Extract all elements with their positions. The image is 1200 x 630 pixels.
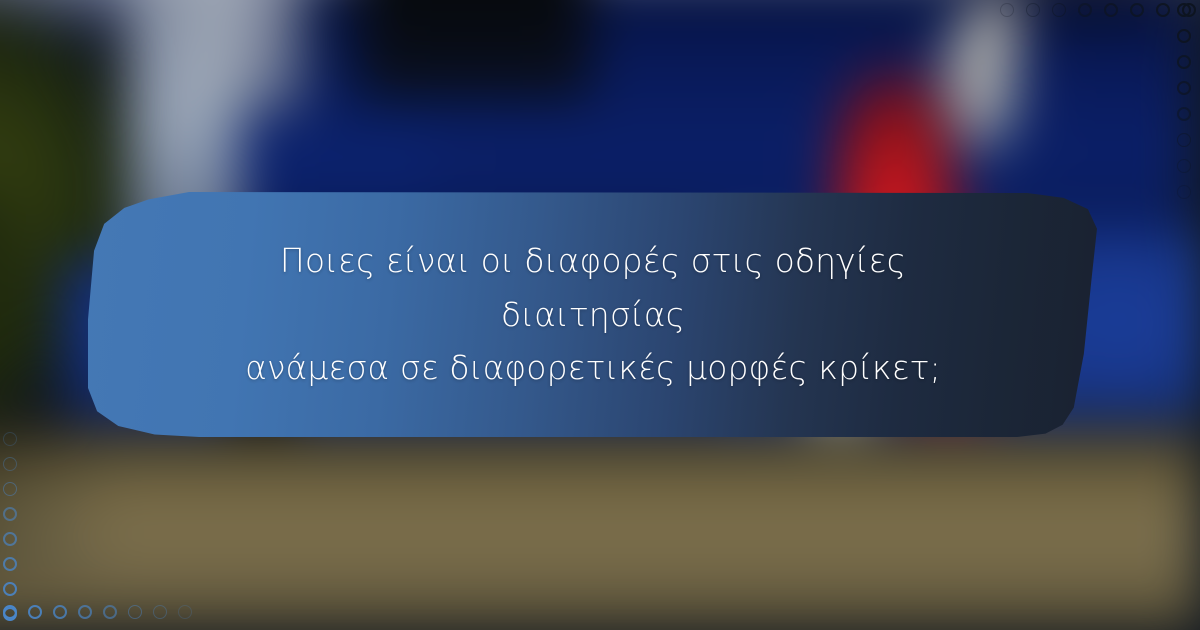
decorative-dot bbox=[1078, 3, 1092, 17]
decorative-dot bbox=[3, 507, 17, 521]
decorative-dot bbox=[1000, 3, 1014, 17]
decorative-dot bbox=[28, 605, 42, 619]
decorative-dot bbox=[1177, 3, 1191, 17]
decorative-dot bbox=[1177, 55, 1191, 69]
headline-line-1: Ποιες είναι οι διαφορές στις οδηγίες δια… bbox=[280, 241, 906, 333]
decorative-dot bbox=[1177, 107, 1191, 121]
decorative-dot bbox=[3, 482, 17, 496]
decorative-dot bbox=[1156, 3, 1170, 17]
card-content: Ποιες είναι οι διαφορές στις οδηγίες δια… bbox=[88, 192, 1098, 437]
decorative-dot bbox=[1177, 185, 1191, 199]
decorative-dot bbox=[78, 605, 92, 619]
decorative-dot bbox=[1130, 3, 1144, 17]
ground-strip-region bbox=[0, 428, 1200, 630]
decorative-dot bbox=[1177, 81, 1191, 95]
decorative-dot bbox=[128, 605, 142, 619]
page-title: Ποιες είναι οι διαφορές στις οδηγίες δια… bbox=[213, 234, 973, 394]
decorative-dot bbox=[1052, 3, 1066, 17]
decorative-dot bbox=[3, 432, 17, 446]
headline-line-2: ανάμεσα σε διαφορετικές μορφές κρίκετ; bbox=[245, 348, 941, 387]
decorative-dot bbox=[1177, 159, 1191, 173]
decorative-dot bbox=[1177, 29, 1191, 43]
decorative-dot bbox=[178, 605, 192, 619]
decorative-dot bbox=[1026, 3, 1040, 17]
dark-structure-region bbox=[360, 0, 590, 100]
social-card-canvas: Ποιες είναι οι διαφορές στις οδηγίες δια… bbox=[0, 0, 1200, 630]
decorative-dot bbox=[3, 532, 17, 546]
decorative-dot bbox=[103, 605, 117, 619]
headline-card: Ποιες είναι οι διαφορές στις οδηγίες δια… bbox=[88, 192, 1098, 437]
decorative-dot bbox=[3, 605, 17, 619]
decorative-dot bbox=[53, 605, 67, 619]
decorative-dot bbox=[3, 557, 17, 571]
decorative-dot bbox=[1177, 133, 1191, 147]
decorative-dot bbox=[153, 605, 167, 619]
decorative-dot bbox=[1104, 3, 1118, 17]
decorative-dot bbox=[3, 457, 17, 471]
decorative-dot bbox=[3, 582, 17, 596]
